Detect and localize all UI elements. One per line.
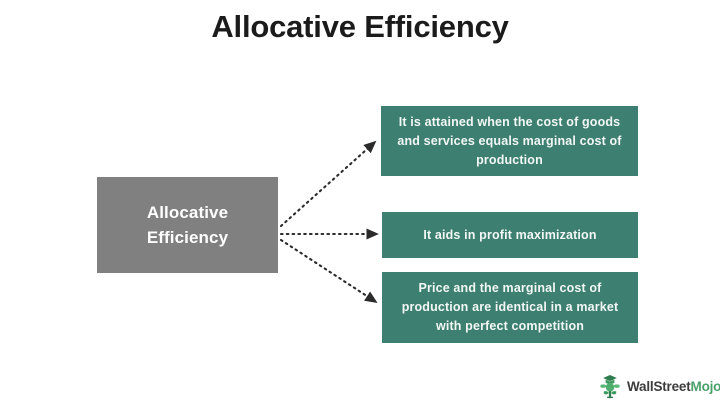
- outcome-node-1[interactable]: It is attained when the cost of goods an…: [381, 106, 638, 176]
- arrow-to-outcome-0: [281, 142, 375, 226]
- outcome-node-3-label: Price and the marginal cost of productio…: [392, 279, 628, 336]
- source-node-label: Allocative Efficiency: [147, 200, 228, 250]
- page-title: Allocative Efficiency: [0, 8, 720, 46]
- source-node[interactable]: Allocative Efficiency: [97, 177, 278, 273]
- arrow-to-outcome-2: [281, 240, 376, 302]
- graduation-cap-tree-logo-icon: [597, 373, 623, 399]
- outcome-node-1-label: It is attained when the cost of goods an…: [391, 113, 628, 170]
- brand-logo[interactable]: WallStreetMojo: [597, 370, 710, 402]
- diagram-canvas: Allocative Efficiency Allocative Efficie…: [0, 0, 720, 416]
- brand-name-primary: WallStreet: [627, 379, 691, 394]
- outcome-node-2[interactable]: It aids in profit maximization: [382, 212, 638, 258]
- outcome-node-2-label: It aids in profit maximization: [423, 226, 596, 245]
- brand-name-accent: Mojo: [691, 379, 720, 394]
- brand-logo-text: WallStreetMojo: [627, 379, 720, 394]
- outcome-node-3[interactable]: Price and the marginal cost of productio…: [382, 272, 638, 343]
